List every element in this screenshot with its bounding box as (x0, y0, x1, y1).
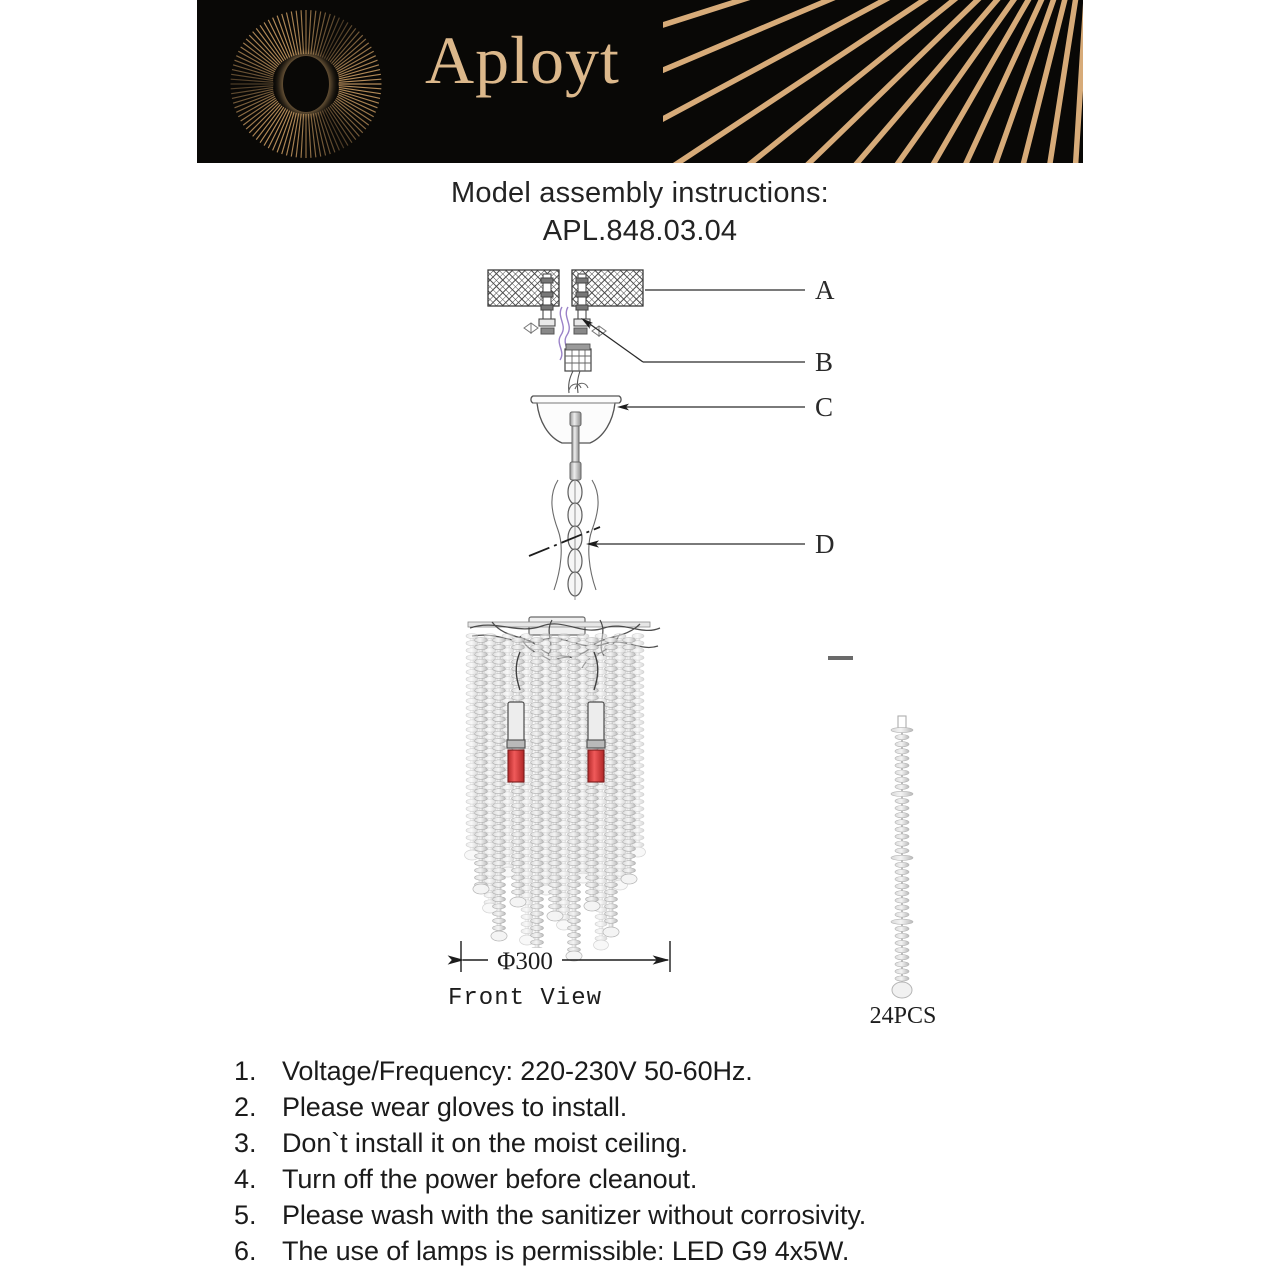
callout-letter-d: D (815, 531, 835, 558)
dash-marker-icon (828, 656, 853, 660)
callout-letter-c: C (815, 394, 833, 421)
suspension-chain-graphic (529, 462, 805, 600)
list-item-number: 1. (234, 1056, 282, 1087)
list-item-number: 2. (234, 1092, 282, 1123)
list-item-text: Please wash with the sanitizer without c… (282, 1200, 866, 1231)
title-heading: Model assembly instructions: (0, 174, 1280, 212)
list-item: 4. Turn off the power before cleanout. (234, 1164, 1234, 1200)
front-view-label: Front View (0, 985, 1280, 1012)
part-quantity-label: 24PCS (838, 1003, 968, 1030)
callout-letter-b: B (815, 349, 833, 376)
list-item-number: 5. (234, 1200, 282, 1231)
brand-wordmark: Aployt (425, 26, 620, 94)
list-item-number: 6. (234, 1236, 282, 1267)
diameter-label: Φ300 (0, 948, 1280, 976)
list-item: 6. The use of lamps is permissible: LED … (234, 1236, 1234, 1272)
list-item-text: Don`t install it on the moist ceiling. (282, 1128, 688, 1159)
chandelier-body-graphic (465, 617, 660, 967)
lamp-holder-left-graphic (507, 652, 525, 782)
sunburst-logo-icon (230, 8, 382, 160)
list-item-number: 4. (234, 1164, 282, 1195)
list-item: 1. Voltage/Frequency: 220-230V 50-60Hz. (234, 1056, 1234, 1092)
ceiling-anchor-plate-graphic (488, 270, 805, 360)
instructions-list: 1. Voltage/Frequency: 220-230V 50-60Hz. … (234, 1056, 1234, 1272)
terminal-block-graphic (565, 318, 805, 393)
list-item: 3. Don`t install it on the moist ceiling… (234, 1128, 1234, 1164)
front-view-text: Front View (448, 985, 602, 1012)
list-item-text: Turn off the power before cleanout. (282, 1164, 697, 1195)
corner-fan-decoration (663, 0, 1083, 163)
crystal-rod-sample-graphic (891, 716, 913, 998)
lamp-holder-right-graphic (587, 652, 605, 782)
callout-letter-a: A (815, 277, 835, 304)
list-item-text: Voltage/Frequency: 220-230V 50-60Hz. (282, 1056, 753, 1087)
canopy-cover-graphic (531, 383, 805, 464)
diameter-dimension-line (461, 941, 670, 972)
brand-header-banner: Aployt (197, 0, 1083, 163)
list-item: 2. Please wear gloves to install. (234, 1092, 1234, 1128)
title-model-code: APL.848.03.04 (0, 212, 1280, 250)
page-title: Model assembly instructions: APL.848.03.… (0, 174, 1280, 250)
list-item-text: The use of lamps is permissible: LED G9 … (282, 1236, 849, 1267)
list-item-text: Please wear gloves to install. (282, 1092, 627, 1123)
list-item: 5. Please wash with the sanitizer withou… (234, 1200, 1234, 1236)
list-item-number: 3. (234, 1128, 282, 1159)
diameter-value: Φ300 (488, 948, 562, 976)
logo-core-ellipse (283, 56, 329, 112)
